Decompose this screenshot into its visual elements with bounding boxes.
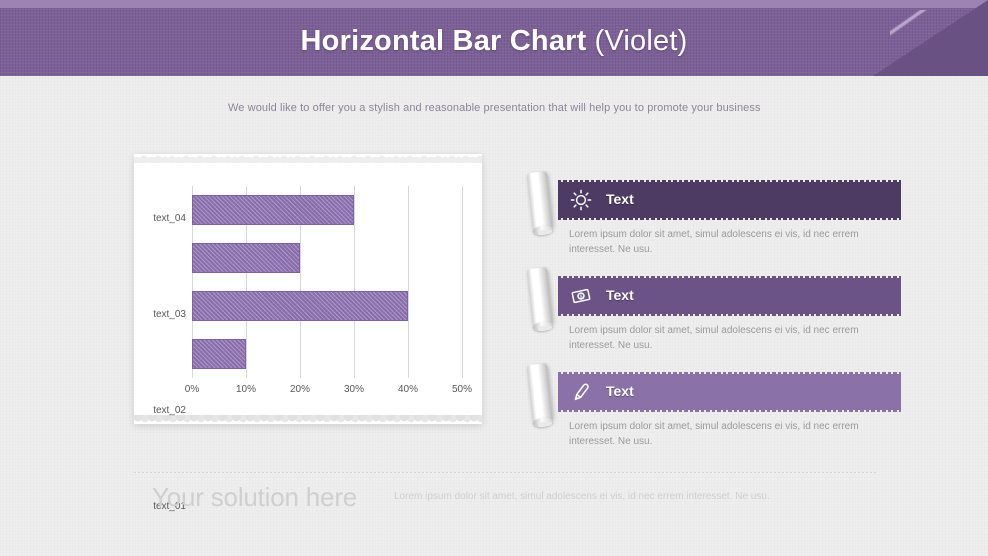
y-axis-tick-label: text_04: [126, 213, 186, 224]
chart-bar-row: text_04: [192, 195, 462, 225]
paper-scroll-body: [527, 363, 553, 421]
paper-scroll-icon: [525, 171, 555, 233]
feature-body-text: Lorem ipsum dolor sit amet, simul adoles…: [569, 324, 879, 353]
footer-title: Your solution here: [152, 482, 357, 513]
money-bill-icon: $: [570, 285, 592, 307]
paper-scroll-cap-inner: [538, 229, 552, 235]
x-axis-tick-label: 0%: [185, 384, 199, 395]
feature-band-torn-edge: [558, 408, 901, 412]
feature-item[interactable]: TextLorem ipsum dolor sit amet, simul ad…: [528, 170, 880, 266]
bar-chart-plot-area: text_04text_03text_02text_01: [192, 186, 462, 378]
y-axis-tick-label: text_03: [126, 309, 186, 320]
paper-scroll-icon: [525, 363, 555, 425]
feature-item[interactable]: $ TextLorem ipsum dolor sit amet, simul …: [528, 266, 880, 362]
x-axis-tick-labels: 0%10%20%30%40%50%: [192, 384, 462, 398]
feature-body-text: Lorem ipsum dolor sit amet, simul adoles…: [569, 420, 879, 449]
page-title-variant: (Violet): [595, 25, 688, 58]
paper-scroll-body: [527, 171, 553, 229]
feature-band-torn-edge: [558, 372, 901, 376]
x-axis-tick-label: 40%: [398, 384, 418, 395]
paper-scroll-cap-inner: [538, 421, 552, 427]
x-axis-tick-label: 30%: [344, 384, 364, 395]
feature-label: Text: [606, 287, 634, 303]
torn-edge-top: [134, 153, 482, 163]
svg-text:$: $: [579, 294, 583, 300]
page-title: Horizontal Bar Chart (Violet): [0, 0, 988, 76]
sun-icon: [570, 189, 592, 211]
paper-scroll-cap: [533, 321, 554, 332]
paper-scroll-body: [527, 267, 553, 325]
feature-list: TextLorem ipsum dolor sit amet, simul ad…: [528, 170, 880, 458]
feature-label: Text: [606, 383, 634, 399]
y-axis-tick-label: text_02: [126, 405, 186, 416]
paper-scroll-icon: [525, 267, 555, 329]
feature-label: Text: [606, 191, 634, 207]
chart-bar-row: text_03: [192, 243, 462, 273]
page-title-main: Horizontal Bar Chart: [301, 25, 587, 58]
chart-gridline: [462, 186, 463, 378]
torn-edge-bottom: [134, 415, 482, 425]
chart-bar[interactable]: [192, 243, 300, 273]
x-axis-tick-label: 20%: [290, 384, 310, 395]
chart-bar[interactable]: [192, 291, 408, 321]
x-axis-tick-label: 50%: [452, 384, 472, 395]
chart-bar-row: text_01: [192, 339, 462, 369]
feature-band-torn-edge: [558, 180, 901, 184]
chart-card: text_04text_03text_02text_01 0%10%20%30%…: [134, 154, 482, 424]
paper-scroll-cap-inner: [538, 325, 552, 331]
slide-subtitle: We would like to offer you a stylish and…: [228, 102, 761, 114]
feature-body-text: Lorem ipsum dolor sit amet, simul adoles…: [569, 228, 879, 257]
chart-bar[interactable]: [192, 195, 354, 225]
paper-scroll-cap: [533, 417, 554, 428]
footer-divider: [134, 472, 878, 473]
feature-band-torn-edge: [558, 216, 901, 220]
x-axis-tick-label: 10%: [236, 384, 256, 395]
feature-band-torn-edge: [558, 276, 901, 280]
pencil-icon: [570, 381, 592, 403]
feature-band-torn-edge: [558, 312, 901, 316]
paper-scroll-cap: [533, 225, 554, 236]
feature-item[interactable]: TextLorem ipsum dolor sit amet, simul ad…: [528, 362, 880, 458]
chart-bar[interactable]: [192, 339, 246, 369]
footer-text: Lorem ipsum dolor sit amet, simul adoles…: [394, 491, 770, 502]
chart-bar-row: text_02: [192, 291, 462, 321]
slide-header: Horizontal Bar Chart (Violet): [0, 0, 988, 76]
